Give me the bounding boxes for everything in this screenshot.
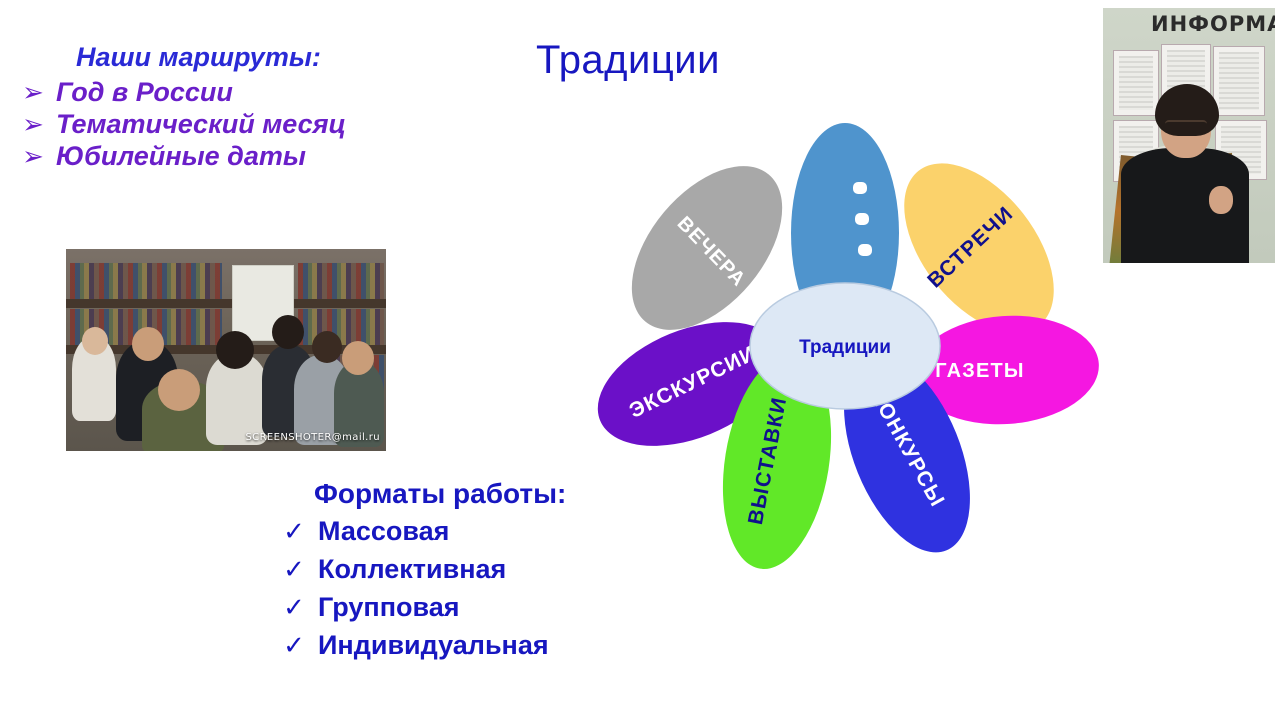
library-audience-photo: SCREENSHOTER@mail.ru [66, 249, 386, 451]
arrow-bullet-icon: ➢ [10, 112, 56, 138]
information-board-title: ИНФОРМАЦ [1151, 12, 1275, 36]
librarian-photo: ИНФОРМАЦ [1103, 8, 1275, 263]
check-icon: ✓ [270, 595, 318, 621]
formats-block: Форматы работы: ✓ Массовая ✓ Коллективна… [270, 478, 690, 668]
page-title: Традиции [536, 38, 720, 83]
glasses-icon [1165, 120, 1207, 132]
list-item: ➢ Юбилейные даты [10, 141, 450, 172]
person-head [216, 331, 254, 369]
list-item: ✓ Массовая [270, 516, 690, 547]
bookshelf-row [298, 263, 384, 299]
shelf-board [66, 299, 386, 308]
person-head [312, 331, 342, 363]
person-head [132, 327, 164, 361]
formats-item-label: Коллективная [318, 554, 506, 585]
person-hand [1209, 186, 1233, 214]
list-item: ✓ Индивидуальная [270, 630, 690, 661]
routes-heading: Наши маршруты: [76, 42, 450, 73]
list-item: ➢ Год в России [10, 77, 450, 108]
formats-item-label: Групповая [318, 592, 460, 623]
formats-item-label: Индивидуальная [318, 630, 549, 661]
person-head [82, 327, 108, 355]
arrow-bullet-icon: ➢ [10, 144, 56, 170]
formats-item-label: Массовая [318, 516, 449, 547]
check-icon: ✓ [270, 519, 318, 545]
bookshelf-row [70, 263, 222, 299]
check-icon: ✓ [270, 633, 318, 659]
bookshelf-row [298, 309, 384, 345]
check-icon: ✓ [270, 557, 318, 583]
list-item: ✓ Групповая [270, 592, 690, 623]
routes-item-label: Год в России [56, 77, 233, 108]
arrow-bullet-icon: ➢ [10, 80, 56, 106]
notice-frame [1213, 46, 1265, 116]
routes-block: Наши маршруты: ➢ Год в России ➢ Тематиче… [10, 42, 450, 173]
list-item: ✓ Коллективная [270, 554, 690, 585]
routes-item-label: Юбилейные даты [56, 141, 306, 172]
routes-item-label: Тематический месяц [56, 109, 346, 140]
flower-center[interactable]: Традиции [750, 283, 940, 409]
formats-heading: Форматы работы: [314, 478, 690, 510]
petal-gazety-label: ГАЗЕТЫ [935, 360, 1024, 382]
list-item: ➢ Тематический месяц [10, 109, 450, 140]
person-head [272, 315, 304, 349]
person-head [158, 369, 200, 411]
photo-watermark: SCREENSHOTER@mail.ru [245, 432, 380, 443]
person-head [342, 341, 374, 375]
flower-center-label: Традиции [799, 337, 891, 358]
